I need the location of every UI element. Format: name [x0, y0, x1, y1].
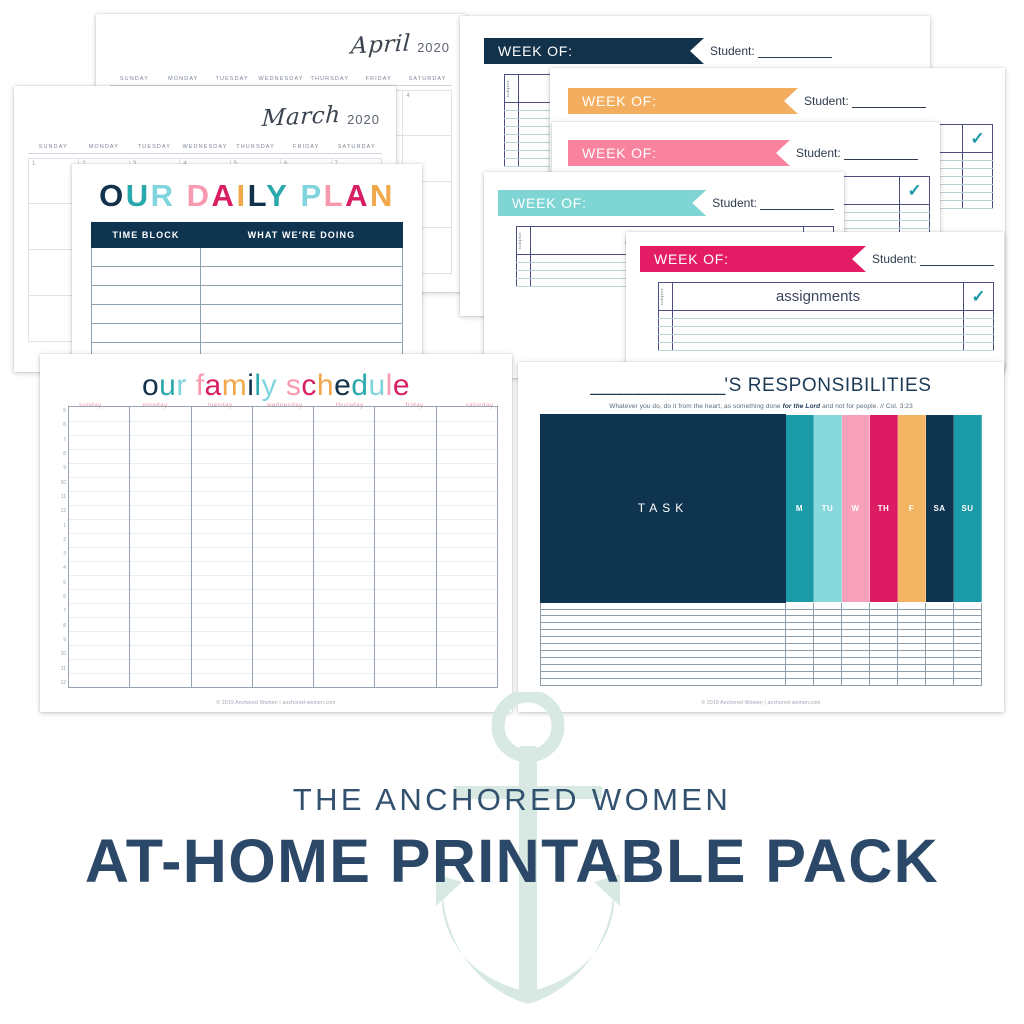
col-header-task: TASK: [541, 415, 786, 603]
check-cell[interactable]: [964, 327, 994, 335]
assignment-cell[interactable]: [673, 343, 964, 351]
schedule-day-column[interactable]: [314, 407, 375, 687]
day-check-cell[interactable]: [954, 651, 982, 658]
student-input-line[interactable]: [758, 49, 832, 58]
day-check-cell[interactable]: [898, 623, 926, 630]
calendar-title-march: March 2020: [262, 104, 380, 130]
day-check-cell[interactable]: [842, 678, 870, 685]
check-cell[interactable]: [963, 153, 993, 161]
schedule-hour-line: [130, 673, 190, 674]
day-check-cell[interactable]: [954, 671, 982, 678]
schedule-hour-line: [69, 505, 129, 506]
schedule-hour-line: [130, 631, 190, 632]
calendar-day-label: THURSDAY: [305, 76, 354, 85]
schedule-hour-line: [437, 491, 497, 492]
subject-cell[interactable]: [659, 311, 673, 319]
schedule-hour-line: [437, 435, 497, 436]
activity-cell[interactable]: [200, 248, 402, 267]
title-letter: [277, 369, 286, 402]
subject-cell[interactable]: [659, 343, 673, 351]
day-check-cell[interactable]: [926, 644, 954, 651]
schedule-hour-line: [375, 673, 435, 674]
week-of-banner: WEEK OF: Student:: [484, 38, 916, 64]
time-block-cell[interactable]: [92, 267, 201, 286]
schedule-hour-line: [375, 505, 435, 506]
assignments-table-wrap: subject assignments ✓: [658, 282, 994, 351]
day-check-cell[interactable]: [842, 623, 870, 630]
subject-cell[interactable]: [505, 119, 519, 127]
schedule-hour-line: [437, 533, 497, 534]
day-check-cell[interactable]: [870, 678, 898, 685]
day-check-cell[interactable]: [954, 678, 982, 685]
check-column-header: ✓: [900, 177, 930, 205]
schedule-hour-line: [314, 533, 374, 534]
day-check-cell[interactable]: [954, 616, 982, 623]
day-check-cell[interactable]: [842, 630, 870, 637]
student-input-line[interactable]: [760, 201, 834, 210]
schedule-hour-line: [314, 519, 374, 520]
table-row[interactable]: [541, 637, 982, 644]
schedule-hour-line: [437, 421, 497, 422]
day-check-cell[interactable]: [954, 623, 982, 630]
schedule-hour-line: [192, 463, 252, 464]
schedule-hour-line: [314, 449, 374, 450]
check-cell[interactable]: [900, 205, 930, 213]
schedule-hour-line: [253, 477, 313, 478]
schedule-hour-line: [314, 589, 374, 590]
day-check-cell[interactable]: [786, 637, 814, 644]
schedule-hour-line: [375, 603, 435, 604]
daily-plan-row[interactable]: [92, 248, 403, 267]
schedule-hour-line: [314, 435, 374, 436]
day-check-cell[interactable]: [814, 665, 842, 672]
day-check-cell[interactable]: [926, 630, 954, 637]
day-check-cell[interactable]: [898, 665, 926, 672]
day-check-cell[interactable]: [814, 678, 842, 685]
title-letter: a: [205, 369, 222, 402]
check-cell[interactable]: [963, 177, 993, 185]
schedule-day-column[interactable]: [192, 407, 253, 687]
table-row[interactable]: [541, 609, 982, 616]
subject-cell[interactable]: [505, 103, 519, 111]
subject-label: subject: [659, 288, 664, 306]
day-check-cell[interactable]: [870, 630, 898, 637]
assignment-cell[interactable]: [673, 335, 964, 343]
schedule-hour-line: [375, 519, 435, 520]
schedule-hour-line: [253, 547, 313, 548]
schedule-hour-line: [253, 463, 313, 464]
responsibilities-table: TASK M TU W TH F SA SU: [540, 414, 982, 686]
subject-cell[interactable]: [517, 255, 531, 263]
table-row[interactable]: [541, 644, 982, 651]
schedule-hour-line: [437, 449, 497, 450]
day-check-cell[interactable]: [842, 616, 870, 623]
daily-plan-header-row: TIME BLOCK WHAT WE'RE DOING: [92, 223, 403, 248]
day-check-cell[interactable]: [870, 616, 898, 623]
day-check-cell[interactable]: [842, 671, 870, 678]
day-check-cell[interactable]: [814, 630, 842, 637]
task-cell[interactable]: [541, 671, 786, 678]
day-check-cell[interactable]: [898, 644, 926, 651]
task-cell[interactable]: [541, 651, 786, 658]
time-block-cell[interactable]: [92, 248, 201, 267]
schedule-hour-line: [130, 589, 190, 590]
student-label: Student:: [796, 146, 841, 160]
schedule-hour-line: [69, 477, 129, 478]
check-cell[interactable]: [963, 169, 993, 177]
schedule-hour-line: [192, 519, 252, 520]
calendar-day-label: FRIDAY: [281, 144, 332, 153]
schedule-hour-line: [437, 575, 497, 576]
day-check-cell[interactable]: [954, 658, 982, 665]
day-check-cell[interactable]: [898, 658, 926, 665]
table-row[interactable]: [541, 671, 982, 678]
schedule-hour-line: [375, 463, 435, 464]
title-letter: Y: [266, 178, 289, 213]
family-schedule-card: our family schedule sunday monday tuesda…: [40, 354, 512, 712]
schedule-hour-line: [375, 617, 435, 618]
schedule-hour-line: [253, 435, 313, 436]
subject-cell[interactable]: [505, 127, 519, 135]
day-check-cell[interactable]: [926, 678, 954, 685]
assignment-cell[interactable]: [673, 319, 964, 327]
subject-cell[interactable]: [517, 279, 531, 287]
table-row[interactable]: [541, 658, 982, 665]
day-check-cell[interactable]: [926, 658, 954, 665]
subject-cell[interactable]: [659, 327, 673, 335]
day-check-cell[interactable]: [842, 658, 870, 665]
day-check-cell[interactable]: [954, 644, 982, 651]
calendar-day-label: SUNDAY: [28, 144, 79, 153]
task-cell[interactable]: [541, 630, 786, 637]
student-input-line[interactable]: [920, 257, 994, 266]
subject-cell[interactable]: [517, 263, 531, 271]
time-tick: 8: [58, 451, 66, 457]
day-check-cell[interactable]: [898, 609, 926, 616]
day-check-cell[interactable]: [870, 671, 898, 678]
student-input-line[interactable]: [852, 99, 926, 108]
day-check-cell[interactable]: [814, 609, 842, 616]
day-check-cell[interactable]: [786, 658, 814, 665]
day-check-cell[interactable]: [842, 651, 870, 658]
calendar-day-label: WEDNESDAY: [180, 144, 231, 153]
schedule-day-column[interactable]: [437, 407, 497, 687]
day-check-cell[interactable]: [786, 644, 814, 651]
check-cell[interactable]: [963, 161, 993, 169]
table-row[interactable]: [541, 616, 982, 623]
check-cell[interactable]: [964, 311, 994, 319]
schedule-hour-line: [192, 575, 252, 576]
subject-cell[interactable]: [517, 271, 531, 279]
student-field[interactable]: Student:: [804, 94, 926, 108]
schedule-day-column[interactable]: [69, 407, 130, 687]
day-check-cell[interactable]: [814, 602, 842, 609]
table-row[interactable]: [541, 678, 982, 685]
student-label: Student:: [710, 44, 755, 58]
assignments-table: subject assignments ✓: [658, 282, 994, 351]
assignment-cell[interactable]: [673, 311, 964, 319]
week-of-banner: WEEK OF: Student:: [568, 88, 993, 114]
time-block-cell[interactable]: [92, 305, 201, 324]
day-check-cell[interactable]: [870, 651, 898, 658]
assignment-cell[interactable]: [673, 327, 964, 335]
schedule-hour-line: [314, 603, 374, 604]
day-check-cell[interactable]: [786, 665, 814, 672]
day-check-cell[interactable]: [870, 637, 898, 644]
day-check-cell[interactable]: [814, 616, 842, 623]
day-check-cell[interactable]: [786, 651, 814, 658]
title-letter: N: [370, 178, 395, 213]
activity-cell[interactable]: [200, 267, 402, 286]
responsibilities-title-text: 'S RESPONSIBILITIES: [724, 375, 931, 396]
schedule-hour-line: [314, 421, 374, 422]
title-letter: I: [236, 178, 247, 213]
calendar-day-label: SATURDAY: [331, 144, 382, 153]
calendar-day-label: SUNDAY: [110, 76, 159, 85]
schedule-hour-line: [253, 561, 313, 562]
schedule-hour-line: [437, 589, 497, 590]
title-letter: D: [187, 178, 212, 213]
table-row[interactable]: [541, 623, 982, 630]
title-letter: [176, 178, 187, 213]
schedule-hour-line: [253, 645, 313, 646]
student-input-line[interactable]: [844, 151, 918, 160]
calendar-daybar: SUNDAY MONDAY TUESDAY WEDNESDAY THURSDAY…: [110, 76, 452, 86]
day-check-cell[interactable]: [842, 644, 870, 651]
schedule-hour-line: [314, 645, 374, 646]
day-check-cell[interactable]: [814, 623, 842, 630]
student-field[interactable]: Student:: [796, 146, 918, 160]
day-check-cell[interactable]: [954, 637, 982, 644]
task-cell[interactable]: [541, 609, 786, 616]
schedule-hour-line: [253, 519, 313, 520]
schedule-hour-line: [253, 449, 313, 450]
activity-cell[interactable]: [200, 324, 402, 343]
day-check-cell[interactable]: [898, 602, 926, 609]
schedule-hour-line: [437, 673, 497, 674]
day-check-cell[interactable]: [870, 665, 898, 672]
title-letter: U: [126, 178, 151, 213]
week-of-flag: WEEK OF:: [640, 246, 866, 272]
title-letter: y: [262, 369, 278, 402]
day-check-cell[interactable]: [842, 665, 870, 672]
day-check-cell[interactable]: [926, 623, 954, 630]
check-cell[interactable]: [964, 319, 994, 327]
time-tick: 9: [58, 465, 66, 471]
time-tick: 12: [58, 680, 66, 686]
quote-pre: Whatever you do, do it from the heart, a…: [609, 403, 782, 410]
col-header-f: F: [898, 415, 926, 603]
activity-cell[interactable]: [200, 305, 402, 324]
table-row[interactable]: [541, 651, 982, 658]
day-check-cell[interactable]: [786, 616, 814, 623]
check-cell[interactable]: [964, 335, 994, 343]
responsibilities-quote: Whatever you do, do it from the heart, a…: [518, 397, 1004, 410]
week-of-banner: WEEK OF: Student:: [568, 140, 930, 166]
subject-cell[interactable]: [505, 111, 519, 119]
assignments-row[interactable]: [659, 343, 994, 351]
calendar-year: 2020: [417, 40, 450, 55]
schedule-hour-line: [192, 659, 252, 660]
day-check-cell[interactable]: [898, 678, 926, 685]
day-check-cell[interactable]: [842, 637, 870, 644]
day-check-cell[interactable]: [898, 630, 926, 637]
calendar-day-label: SATURDAY: [403, 76, 452, 85]
calendar-day-cell[interactable]: 4: [403, 90, 452, 136]
schedule-hour-line: [69, 617, 129, 618]
day-check-cell[interactable]: [814, 651, 842, 658]
col-header-m: M: [786, 415, 814, 603]
week-of-flag: WEEK OF:: [568, 88, 798, 114]
day-check-cell[interactable]: [926, 609, 954, 616]
subject-label: subject: [517, 232, 522, 250]
day-check-cell[interactable]: [814, 637, 842, 644]
responsibilities-title: ______________'S RESPONSIBILITIES: [518, 362, 1004, 397]
check-cell[interactable]: [963, 185, 993, 193]
day-check-cell[interactable]: [926, 671, 954, 678]
schedule-hour-line: [375, 589, 435, 590]
check-cell[interactable]: [900, 221, 930, 229]
day-check-cell[interactable]: [870, 623, 898, 630]
check-cell[interactable]: [963, 193, 993, 201]
weekly-sheet-magenta: WEEK OF: Student: subject assignments ✓: [626, 232, 1004, 374]
day-check-cell[interactable]: [870, 602, 898, 609]
schedule-day-column[interactable]: [253, 407, 314, 687]
subject-cell[interactable]: [659, 335, 673, 343]
time-block-cell[interactable]: [92, 286, 201, 305]
student-field[interactable]: Student:: [872, 252, 994, 266]
title-letter: [289, 178, 300, 213]
title-letter: r: [176, 369, 187, 402]
day-check-cell[interactable]: [898, 671, 926, 678]
daily-plan-row[interactable]: [92, 324, 403, 343]
task-cell[interactable]: [541, 616, 786, 623]
day-check-cell[interactable]: [898, 637, 926, 644]
title-letter: L: [248, 178, 267, 213]
responsibilities-header-row: TASK M TU W TH F SA SU: [541, 415, 982, 603]
daily-plan-row[interactable]: [92, 267, 403, 286]
day-check-cell[interactable]: [814, 658, 842, 665]
schedule-hour-line: [69, 645, 129, 646]
check-cell[interactable]: [963, 201, 993, 209]
col-header-sa: SA: [926, 415, 954, 603]
week-of-label: WEEK OF:: [512, 195, 587, 211]
student-field[interactable]: Student:: [712, 196, 834, 210]
check-cell[interactable]: [964, 343, 994, 351]
name-blank[interactable]: ______________: [590, 375, 724, 396]
daily-plan-row[interactable]: [92, 286, 403, 305]
task-cell[interactable]: [541, 637, 786, 644]
calendar-title-april: April 2020: [351, 32, 450, 58]
schedule-day-column[interactable]: [130, 407, 191, 687]
subject-cell[interactable]: [505, 151, 519, 159]
task-cell[interactable]: [541, 658, 786, 665]
day-check-cell[interactable]: [814, 671, 842, 678]
task-cell[interactable]: [541, 665, 786, 672]
day-check-cell[interactable]: [870, 644, 898, 651]
title-letter: e: [393, 369, 410, 402]
time-tick: 3: [58, 551, 66, 557]
check-cell[interactable]: [900, 213, 930, 221]
day-check-cell[interactable]: [926, 637, 954, 644]
subject-column-header: subject: [505, 75, 519, 103]
day-check-cell[interactable]: [786, 630, 814, 637]
day-check-cell[interactable]: [814, 644, 842, 651]
day-check-cell[interactable]: [842, 609, 870, 616]
day-check-cell[interactable]: [926, 665, 954, 672]
table-row[interactable]: [541, 602, 982, 609]
table-row[interactable]: [541, 665, 982, 672]
day-check-cell[interactable]: [786, 623, 814, 630]
student-field[interactable]: Student:: [710, 44, 832, 58]
task-cell[interactable]: [541, 644, 786, 651]
col-header-time-block: TIME BLOCK: [92, 223, 201, 248]
assignments-row[interactable]: [659, 327, 994, 335]
calendar-day-number: 1: [32, 161, 35, 167]
day-check-cell[interactable]: [926, 651, 954, 658]
day-check-cell[interactable]: [870, 609, 898, 616]
schedule-hour-line: [130, 603, 190, 604]
assignments-row[interactable]: [659, 319, 994, 327]
assignments-row[interactable]: [659, 311, 994, 319]
day-check-cell[interactable]: [786, 602, 814, 609]
subject-cell[interactable]: [505, 159, 519, 167]
activity-cell[interactable]: [200, 286, 402, 305]
table-row[interactable]: [541, 630, 982, 637]
day-check-cell[interactable]: [870, 658, 898, 665]
week-of-label: WEEK OF:: [582, 93, 657, 109]
day-check-cell[interactable]: [926, 602, 954, 609]
day-check-cell[interactable]: [786, 678, 814, 685]
task-cell[interactable]: [541, 623, 786, 630]
schedule-hour-line: [314, 463, 374, 464]
title-letter: o: [142, 369, 159, 402]
day-check-cell[interactable]: [926, 616, 954, 623]
time-block-cell[interactable]: [92, 324, 201, 343]
calendar-day-number: 4: [406, 93, 409, 99]
schedule-hour-line: [253, 491, 313, 492]
quote-post: and not for people. // Col. 3:23: [820, 403, 913, 410]
assignments-row[interactable]: [659, 335, 994, 343]
day-check-cell[interactable]: [842, 602, 870, 609]
day-check-cell[interactable]: [786, 671, 814, 678]
day-check-cell[interactable]: [954, 609, 982, 616]
schedule-hour-line: [375, 575, 435, 576]
subject-cell[interactable]: [505, 135, 519, 143]
schedule-hour-line: [130, 645, 190, 646]
calendar-day-label: MONDAY: [159, 76, 208, 85]
task-cell[interactable]: [541, 678, 786, 685]
subject-cell[interactable]: [659, 319, 673, 327]
day-check-cell[interactable]: [954, 602, 982, 609]
title-letter: L: [324, 178, 345, 213]
day-check-cell[interactable]: [898, 651, 926, 658]
daily-plan-row[interactable]: [92, 305, 403, 324]
schedule-hour-line: [253, 659, 313, 660]
title-letter: c: [301, 369, 317, 402]
week-of-label: WEEK OF:: [498, 43, 573, 59]
day-check-cell[interactable]: [954, 665, 982, 672]
task-cell[interactable]: [541, 602, 786, 609]
day-check-cell[interactable]: [786, 609, 814, 616]
day-check-cell[interactable]: [898, 616, 926, 623]
schedule-hour-line: [437, 519, 497, 520]
schedule-day-column[interactable]: [375, 407, 436, 687]
subject-cell[interactable]: [505, 143, 519, 151]
day-check-cell[interactable]: [954, 630, 982, 637]
time-tick: 9: [58, 637, 66, 643]
schedule-hour-line: [192, 421, 252, 422]
